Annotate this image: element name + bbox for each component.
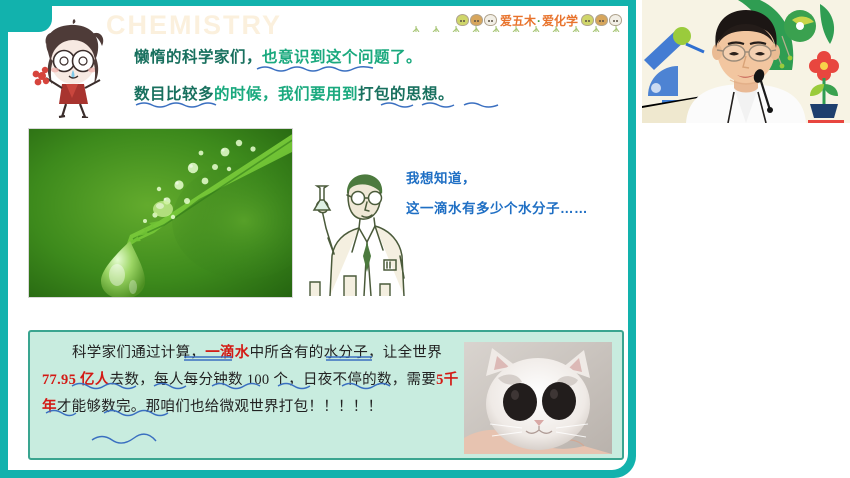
highlight-one-drop: 一滴水 <box>205 345 249 361</box>
explanation-textbox: 科学家们通过计算，一滴水中所含有的水分子，让全世界77.95 亿人去数，每人每分… <box>28 330 624 460</box>
squiggle-underline-2 <box>135 100 217 109</box>
paragraph-seg-1: 科学家们通过计算， <box>72 345 205 361</box>
headline-2-plain: 的时候，我们要用到 <box>214 86 358 103</box>
cartoon-girl-mascot-icon <box>26 18 122 118</box>
teacher-person <box>642 0 850 123</box>
teacher-webcam-feed[interactable] <box>642 0 850 123</box>
cat-meme-photo <box>464 342 612 454</box>
screen: CHEMISTRY 爱五木·爱化学 <box>0 0 850 478</box>
grass-decoration <box>412 23 622 32</box>
highlight-population: 77.95 亿人 <box>42 372 110 388</box>
headline-1-plain: 懒惰的科学家们， <box>134 49 262 66</box>
question-line-1: 我想知道， <box>406 167 476 187</box>
squiggle-underline-1 <box>256 64 374 73</box>
slide-frame: CHEMISTRY 爱五木·爱化学 <box>0 0 636 478</box>
slide-content: CHEMISTRY 爱五木·爱化学 <box>8 6 628 470</box>
paragraph-seg-4: 才能够数完。那咱们也给微观世界打包！！！！！ <box>57 399 383 415</box>
explanation-paragraph: 科学家们通过计算，一滴水中所含有的水分子，让全世界77.95 亿人去数，每人每分… <box>42 340 466 421</box>
paragraph-seg-3: 去数，每人每分钟数 100 个，日夜不停的数，需要 <box>110 372 437 388</box>
paragraph-seg-2: 中所含有的水分子，让全世界 <box>250 345 442 361</box>
chemistry-watermark: CHEMISTRY <box>106 10 282 41</box>
question-line-2: 这一滴水有多少个水分子…… <box>406 197 588 217</box>
scientist-illustration <box>304 156 414 296</box>
leaf-waterdrop-photo <box>28 128 293 298</box>
squiggle-underline-3 <box>380 100 500 109</box>
